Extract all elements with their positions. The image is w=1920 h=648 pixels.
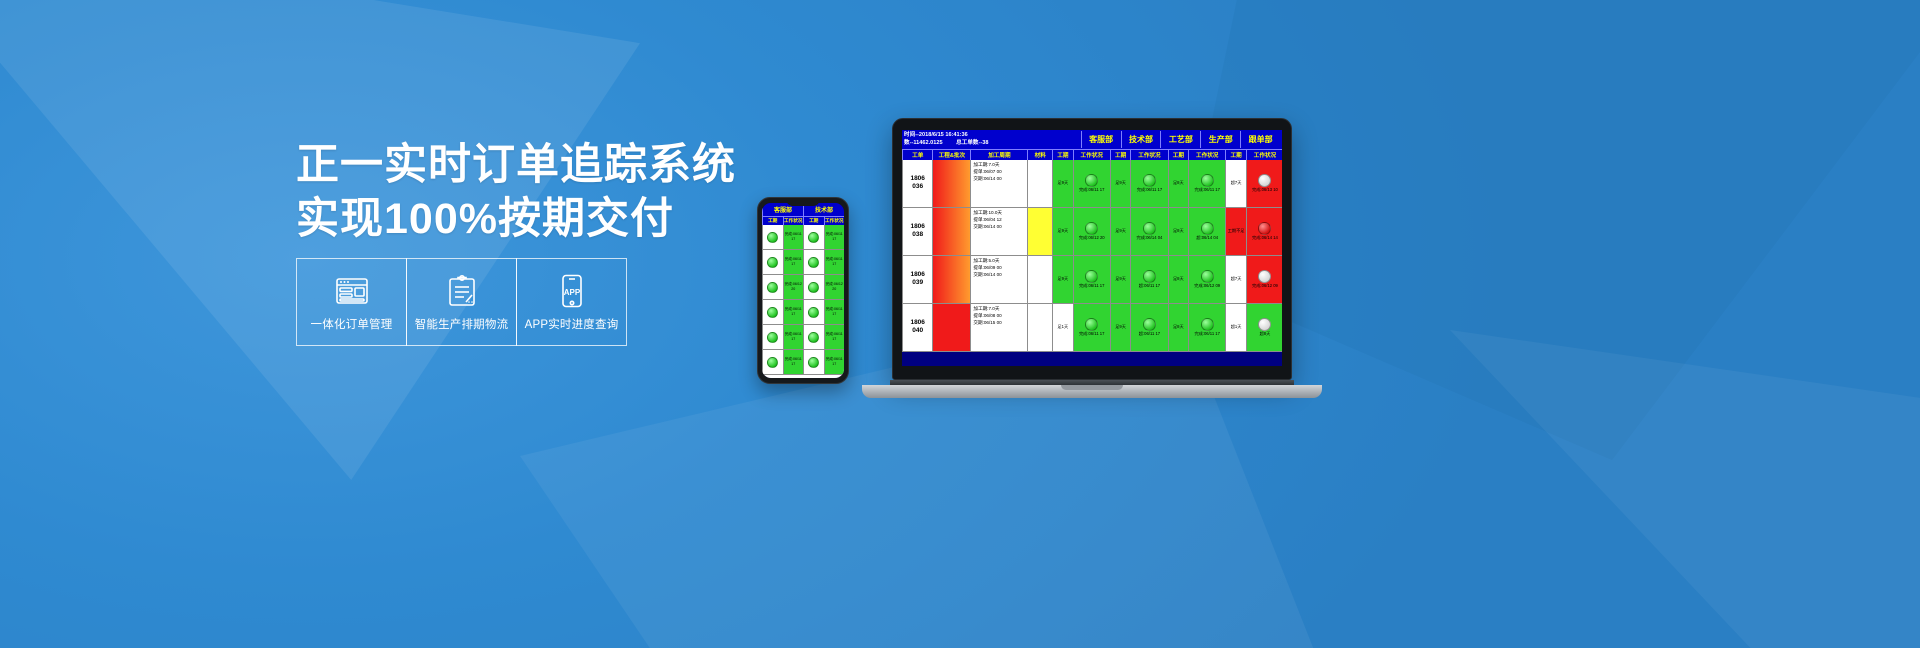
phone-cell-term-1 bbox=[762, 275, 783, 299]
phone-cell-status-1[interactable]: 完成:06/11 17 bbox=[783, 250, 804, 274]
cell-status-1[interactable]: 完成:06/12 20 bbox=[1073, 208, 1110, 255]
cell-term-4: 超7天 bbox=[1225, 256, 1246, 303]
list-item[interactable]: 完成:06/12 20完成:06/12 20 bbox=[762, 275, 844, 300]
cell-project-batch bbox=[932, 208, 970, 255]
status-indicator-dot bbox=[767, 282, 778, 293]
col-status-1: 工作状况 bbox=[1073, 150, 1110, 160]
phone-cell-term-2 bbox=[803, 250, 824, 274]
phone-cell-term-2 bbox=[803, 225, 824, 249]
cell-term-2: 足9天 bbox=[1110, 256, 1131, 303]
cell-term-2: 足9天 bbox=[1110, 304, 1131, 351]
cell-project-batch bbox=[932, 304, 970, 351]
dashboard: 时间--2018/6/15 16:41:36 数--11462.0125 总工单… bbox=[902, 130, 1282, 352]
status-indicator-dot bbox=[1143, 222, 1156, 235]
phone-cell-status-2[interactable]: 完成:06/11 17 bbox=[824, 325, 845, 349]
cell-status-3[interactable]: 完成:06/12 09 bbox=[1188, 256, 1225, 303]
list-item[interactable]: 完成:06/11 17完成:06/11 17 bbox=[762, 250, 844, 275]
mobile-app-icon: APP bbox=[560, 272, 584, 310]
col-cycle: 加工周期 bbox=[970, 150, 1027, 160]
phone-cell-term-2 bbox=[803, 325, 824, 349]
phone-cell-term-2 bbox=[803, 350, 824, 374]
col-project: 工程&批次 bbox=[932, 150, 970, 160]
status-indicator-dot bbox=[1201, 318, 1214, 331]
col-term-4: 工期 bbox=[1225, 150, 1246, 160]
feature-order-management[interactable]: 一体化订单管理 bbox=[296, 258, 407, 346]
phone-cell-status-1[interactable]: 完成:06/12 20 bbox=[783, 275, 804, 299]
dashboard-column-header: 工单 工程&批次 加工周期 材料 工期 工作状况 工期 工作状况 工期 工作状况… bbox=[902, 149, 1282, 160]
status-indicator-dot bbox=[1258, 222, 1271, 235]
phone-col: 工作状况 bbox=[783, 217, 804, 225]
list-item[interactable]: 完成:06/11 17完成:06/11 17 bbox=[762, 325, 844, 350]
cell-term-4: 超1天 bbox=[1225, 304, 1246, 351]
status-indicator-dot bbox=[1143, 318, 1156, 331]
col-term-3: 工期 bbox=[1168, 150, 1189, 160]
cell-status-3[interactable]: 完成:06/11 17 bbox=[1188, 304, 1225, 351]
dashboard-total: 总工单数--38 bbox=[956, 140, 988, 146]
headline-line-1: 正一实时订单追踪系统 bbox=[296, 138, 766, 192]
cell-processing-cycle: 加工期:5.0天提单:06/09 00交期:06/14 00 bbox=[970, 256, 1027, 303]
cell-term-2: 足9天 bbox=[1110, 160, 1131, 207]
cell-status-4[interactable]: 完成:06/14 14 bbox=[1246, 208, 1282, 255]
status-indicator-dot bbox=[1143, 270, 1156, 283]
cell-work-order: 1806039 bbox=[902, 256, 932, 303]
phone-col: 工期 bbox=[762, 217, 783, 225]
feature-label: APP实时进度查询 bbox=[525, 316, 619, 332]
cell-status-4[interactable]: 超8天 bbox=[1246, 304, 1282, 351]
dept-technology: 技术部 bbox=[1121, 131, 1161, 148]
status-indicator-dot bbox=[808, 257, 819, 268]
cell-status-2[interactable]: 超:06/11 17 bbox=[1130, 304, 1167, 351]
cell-status-2[interactable]: 完成:06/14 04 bbox=[1130, 208, 1167, 255]
col-status-2: 工作状况 bbox=[1130, 150, 1167, 160]
cell-processing-cycle: 加工期:7.0天提单:06/08 00交期:06/15 00 bbox=[970, 304, 1027, 351]
cell-term-1: 足9天 bbox=[1052, 256, 1073, 303]
status-indicator-dot bbox=[808, 282, 819, 293]
window-layout-icon bbox=[335, 272, 369, 310]
phone-cell-status-2[interactable]: 完成:06/11 17 bbox=[824, 300, 845, 324]
status-indicator-dot bbox=[1201, 174, 1214, 187]
phone-cell-term-1 bbox=[762, 250, 783, 274]
phone-mockup: 客服部 技术部 工期 工作状况 工期 工作状况 完成:06/11 17完成:06… bbox=[757, 197, 849, 384]
list-item[interactable]: 完成:06/11 17完成:06/11 17 bbox=[762, 300, 844, 325]
status-indicator-dot bbox=[1085, 174, 1098, 187]
cell-term-4: 工期不足 bbox=[1225, 208, 1246, 255]
status-indicator-dot bbox=[808, 307, 819, 318]
status-indicator-dot bbox=[808, 232, 819, 243]
status-indicator-dot bbox=[808, 357, 819, 368]
table-row[interactable]: 1806040加工期:7.0天提单:06/08 00交期:06/15 00足1天… bbox=[902, 304, 1282, 352]
cell-term-2: 足9天 bbox=[1110, 208, 1131, 255]
cell-material bbox=[1027, 208, 1052, 255]
svg-text:APP: APP bbox=[563, 288, 580, 297]
phone-column-header: 工期 工作状况 工期 工作状况 bbox=[762, 216, 844, 225]
col-term-2: 工期 bbox=[1110, 150, 1131, 160]
headline-block: 正一实时订单追踪系统 实现100%按期交付 bbox=[296, 138, 766, 246]
cell-material bbox=[1027, 160, 1052, 207]
status-indicator-dot bbox=[1201, 222, 1214, 235]
status-indicator-dot bbox=[1085, 318, 1098, 331]
phone-cell-status-2[interactable]: 完成:06/11 17 bbox=[824, 350, 845, 374]
phone-cell-term-1 bbox=[762, 350, 783, 374]
col-material: 材料 bbox=[1027, 150, 1052, 160]
status-indicator-dot bbox=[767, 332, 778, 343]
cell-material bbox=[1027, 304, 1052, 351]
status-indicator-dot bbox=[767, 232, 778, 243]
phone-col: 工作状况 bbox=[824, 217, 845, 225]
phone-cell-status-2[interactable]: 完成:06/11 17 bbox=[824, 225, 845, 249]
bg-polygon-4 bbox=[1450, 330, 1920, 648]
cell-processing-cycle: 加工期:7.0天提单:06/07 00交期:06/14 00 bbox=[970, 160, 1027, 207]
cell-status-3[interactable]: 完成:06/11 17 bbox=[1188, 160, 1225, 207]
cell-term-3: 足8天 bbox=[1168, 208, 1189, 255]
cell-term-1: 足1天 bbox=[1052, 304, 1073, 351]
feature-smart-scheduling[interactable]: 智能生产排期物流 bbox=[406, 258, 517, 346]
cell-status-1[interactable]: 完成:06/11 17 bbox=[1073, 160, 1110, 207]
status-indicator-dot bbox=[1258, 270, 1271, 283]
table-row[interactable]: 1806038加工期:10.0天提单:06/04 12交期:06/14 00足9… bbox=[902, 208, 1282, 256]
phone-cell-term-1 bbox=[762, 325, 783, 349]
cell-term-3: 足8天 bbox=[1168, 160, 1189, 207]
phone-cell-term-2 bbox=[803, 275, 824, 299]
phone-cell-status-1[interactable]: 完成:06/11 17 bbox=[783, 350, 804, 374]
feature-label: 智能生产排期物流 bbox=[415, 316, 509, 332]
cell-status-4[interactable]: 完成:06/13 10 bbox=[1246, 160, 1282, 207]
laptop-lid: 时间--2018/6/15 16:41:36 数--11462.0125 总工单… bbox=[892, 118, 1292, 380]
dept-customer-service: 客服部 bbox=[1081, 131, 1121, 148]
feature-label: 一体化订单管理 bbox=[311, 316, 393, 332]
feature-app-tracking[interactable]: APP APP实时进度查询 bbox=[516, 258, 627, 346]
dashboard-number: 数--11462.0125 bbox=[904, 140, 943, 146]
table-row[interactable]: 1806036加工期:7.0天提单:06/07 00交期:06/14 00足9天… bbox=[902, 160, 1282, 208]
phone-cell-status-1[interactable]: 完成:06/11 17 bbox=[783, 325, 804, 349]
dashboard-header: 时间--2018/6/15 16:41:36 数--11462.0125 总工单… bbox=[902, 130, 1282, 149]
clipboard-list-icon bbox=[447, 272, 477, 310]
dept-process: 工艺部 bbox=[1160, 131, 1200, 148]
phone-row-list: 完成:06/11 17完成:06/11 17完成:06/11 17完成:06/1… bbox=[762, 225, 844, 378]
cell-processing-cycle: 加工期:10.0天提单:06/04 12交期:06/14 00 bbox=[970, 208, 1027, 255]
cell-work-order: 1806036 bbox=[902, 160, 932, 207]
feature-box-group: 一体化订单管理 智能生产排期物流 APP bbox=[296, 258, 626, 346]
phone-cell-term-2 bbox=[803, 300, 824, 324]
dashboard-row-list: 1806036加工期:7.0天提单:06/07 00交期:06/14 00足9天… bbox=[902, 160, 1282, 352]
cell-status-1[interactable]: 完成:06/11 17 bbox=[1073, 304, 1110, 351]
cell-status-3[interactable]: 超:06/14 04 bbox=[1188, 208, 1225, 255]
status-indicator-dot bbox=[767, 357, 778, 368]
status-indicator-dot bbox=[767, 307, 778, 318]
cell-term-1: 足9天 bbox=[1052, 208, 1073, 255]
status-indicator-dot bbox=[1085, 270, 1098, 283]
dashboard-departments: 客服部 技术部 工艺部 生产部 跟单部 bbox=[1081, 131, 1280, 148]
dept-production: 生产部 bbox=[1200, 131, 1240, 148]
status-indicator-dot bbox=[1085, 222, 1098, 235]
phone-cell-term-1 bbox=[762, 300, 783, 324]
cell-term-3: 足8天 bbox=[1168, 304, 1189, 351]
phone-notch bbox=[786, 199, 820, 206]
cell-status-4[interactable]: 完成:06/12 09 bbox=[1246, 256, 1282, 303]
phone-screen[interactable]: 客服部 技术部 工期 工作状况 工期 工作状况 完成:06/11 17完成:06… bbox=[762, 203, 844, 378]
headline-line-2: 实现100%按期交付 bbox=[296, 192, 766, 246]
phone-cell-status-2[interactable]: 完成:06/11 17 bbox=[824, 250, 845, 274]
phone-cell-status-1[interactable]: 完成:06/11 17 bbox=[783, 300, 804, 324]
cell-work-order: 1806040 bbox=[902, 304, 932, 351]
cell-status-2[interactable]: 超:06/11 17 bbox=[1130, 256, 1167, 303]
status-indicator-dot bbox=[1201, 270, 1214, 283]
col-status-3: 工作状况 bbox=[1188, 150, 1225, 160]
cell-status-2[interactable]: 完成:06/11 17 bbox=[1130, 160, 1167, 207]
col-term-1: 工期 bbox=[1052, 150, 1073, 160]
cell-term-1: 足9天 bbox=[1052, 160, 1073, 207]
phone-cell-status-2[interactable]: 完成:06/12 20 bbox=[824, 275, 845, 299]
cell-material bbox=[1027, 256, 1052, 303]
status-indicator-dot bbox=[767, 257, 778, 268]
cell-term-4: 超7天 bbox=[1225, 160, 1246, 207]
table-row[interactable]: 1806039加工期:5.0天提单:06/09 00交期:06/14 00足9天… bbox=[902, 256, 1282, 304]
laptop-mockup: 时间--2018/6/15 16:41:36 数--11462.0125 总工单… bbox=[862, 118, 1322, 398]
list-item[interactable]: 完成:06/11 17完成:06/11 17 bbox=[762, 225, 844, 250]
laptop-screen[interactable]: 时间--2018/6/15 16:41:36 数--11462.0125 总工单… bbox=[902, 130, 1282, 366]
status-indicator-dot bbox=[1143, 174, 1156, 187]
dept-follow-up: 跟单部 bbox=[1240, 131, 1280, 148]
status-indicator-dot bbox=[808, 332, 819, 343]
cell-work-order: 1806038 bbox=[902, 208, 932, 255]
cell-status-1[interactable]: 完成:06/11 17 bbox=[1073, 256, 1110, 303]
list-item[interactable]: 完成:06/11 17完成:06/11 17 bbox=[762, 350, 844, 375]
cell-project-batch bbox=[932, 256, 970, 303]
cell-term-3: 足8天 bbox=[1168, 256, 1189, 303]
phone-col: 工期 bbox=[803, 217, 824, 225]
col-status-4: 工作状况 bbox=[1246, 150, 1282, 160]
status-indicator-dot bbox=[1258, 174, 1271, 187]
dashboard-number-row: 数--11462.0125 总工单数--38 bbox=[904, 139, 1081, 147]
col-work-order: 工单 bbox=[902, 150, 932, 160]
phone-cell-term-1 bbox=[762, 225, 783, 249]
dashboard-header-left: 时间--2018/6/15 16:41:36 数--11462.0125 总工单… bbox=[904, 131, 1081, 148]
phone-cell-status-1[interactable]: 完成:06/11 17 bbox=[783, 225, 804, 249]
laptop-base bbox=[862, 385, 1322, 398]
status-indicator-dot bbox=[1258, 318, 1271, 331]
cell-project-batch bbox=[932, 160, 970, 207]
dashboard-time: 时间--2018/6/15 16:41:36 bbox=[904, 131, 1081, 139]
